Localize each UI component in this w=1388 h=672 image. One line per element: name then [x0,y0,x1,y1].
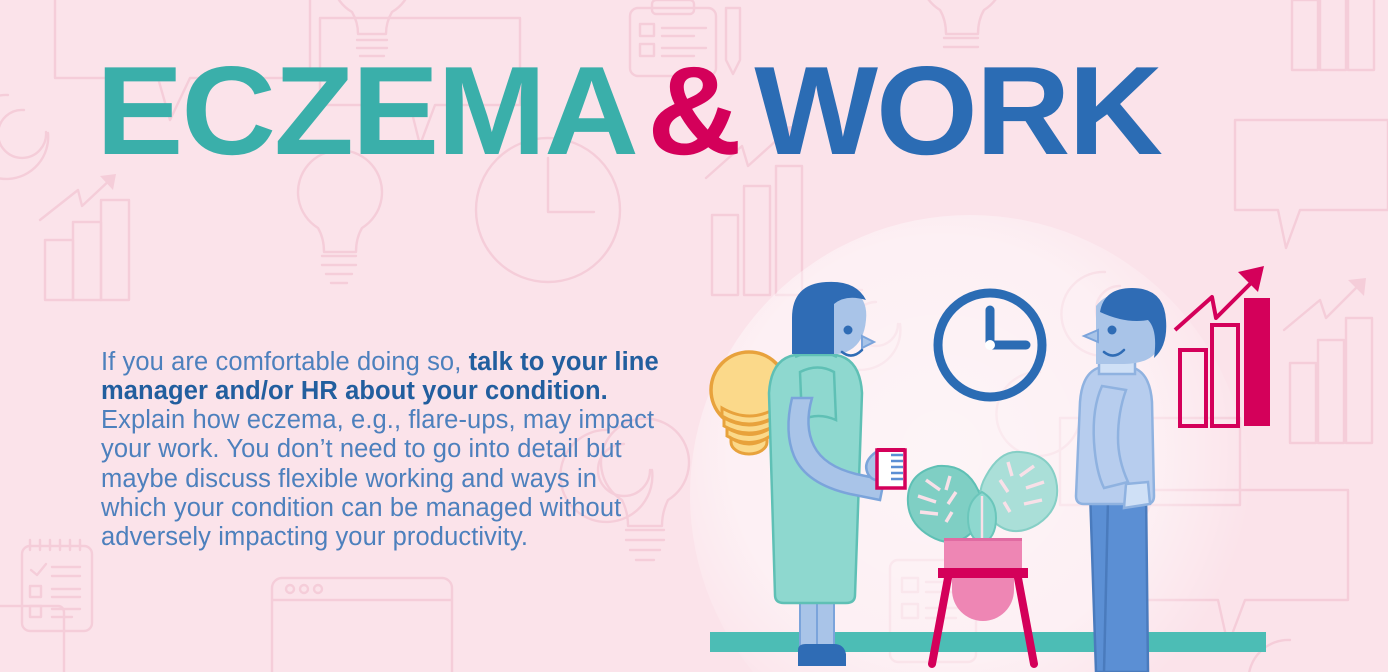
page-title: ECZEMA&WORK [96,48,1161,174]
drinking-cup [877,450,905,488]
bar-1 [1180,350,1206,426]
bar-2 [1212,325,1238,426]
woman-eye [844,326,853,335]
woman-nose [862,336,874,348]
man-eye [1108,326,1117,335]
title-ampersand: & [647,40,740,181]
infographic-canvas: ECZEMA&WORK If you are comfortable doing… [0,0,1388,672]
man-nose [1084,330,1098,342]
woman-with-cup [769,282,905,666]
wall-clock-icon [938,293,1042,397]
man-trousers [1090,490,1148,672]
growth-bar-chart [1175,266,1270,426]
bar-3 [1244,298,1270,426]
floor-strip [710,632,1266,652]
title-word-eczema: ECZEMA [96,40,637,181]
title-word-work: WORK [754,40,1161,181]
trend-arrow-line [1175,283,1251,330]
body-paragraph: If you are comfortable doing so, talk to… [101,348,659,553]
plant-pot-rim [944,538,1022,568]
body-lead: If you are comfortable doing so, [101,348,469,376]
woman-shoe [798,644,846,666]
trend-arrow-head [1238,266,1264,292]
man-standing [1076,288,1166,672]
body-rest: Explain how eczema, e.g., flare-ups, may… [101,406,654,551]
